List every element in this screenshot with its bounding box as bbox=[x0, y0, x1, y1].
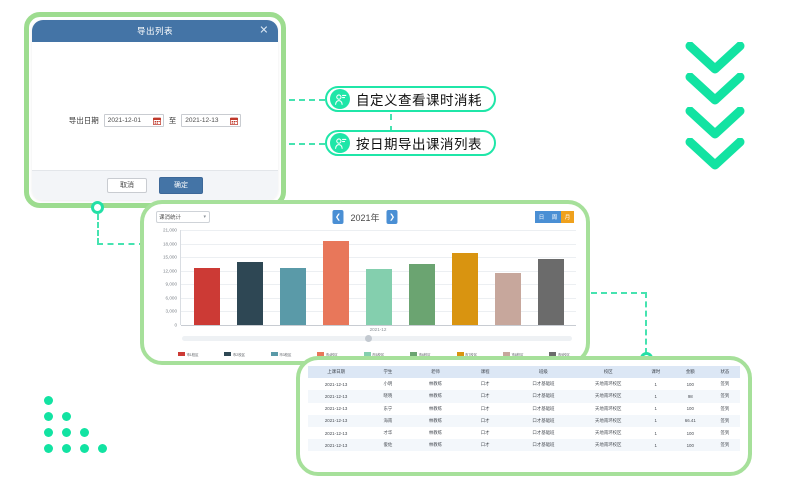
chevron-decoration-group bbox=[684, 42, 784, 177]
table-column-header[interactable]: 校区 bbox=[576, 369, 641, 375]
connector-line-callout-1 bbox=[289, 99, 325, 101]
table-cell: 66.41 bbox=[671, 418, 710, 423]
table-row[interactable]: 2021-12-13才华林教练口才口才基础班天地南环校区1100签到 bbox=[308, 427, 740, 439]
x-axis-label: 2021-12 bbox=[180, 327, 576, 332]
table-cell: 2021-12-13 bbox=[308, 431, 364, 436]
table-column-header[interactable]: 课程 bbox=[459, 369, 511, 375]
table-cell: 签到 bbox=[710, 406, 740, 412]
toggle-week[interactable]: 周 bbox=[548, 211, 561, 223]
person-search-icon bbox=[330, 133, 350, 153]
y-axis-tick: 21,000 bbox=[163, 228, 177, 233]
table-cell: 口才 bbox=[459, 393, 511, 399]
table-column-header[interactable]: 老师 bbox=[412, 369, 460, 375]
chart-bar[interactable] bbox=[495, 273, 521, 325]
table-cell: 98 bbox=[671, 394, 710, 399]
table-cell: 林教练 bbox=[412, 393, 460, 399]
data-table: 上课日期学生老师课程班级校区课时金额状态2021-12-13小明林教练口才口才基… bbox=[308, 366, 740, 466]
table-cell: 口才基础班 bbox=[511, 430, 576, 436]
chart-bar[interactable] bbox=[409, 264, 435, 325]
table-cell: 口才 bbox=[459, 430, 511, 436]
table-cell: 100 bbox=[671, 406, 710, 411]
table-column-header[interactable]: 课时 bbox=[641, 369, 671, 375]
table-cell: 晓晓 bbox=[364, 393, 412, 399]
legend-label: 市2校区 bbox=[233, 352, 245, 357]
chevron-down-decor-icon bbox=[684, 42, 746, 76]
chart-bar[interactable] bbox=[366, 269, 392, 325]
table-cell: 口才 bbox=[459, 442, 511, 448]
table-cell: 1 bbox=[641, 406, 671, 411]
table-cell: 口才基础班 bbox=[511, 381, 576, 387]
close-icon[interactable]: ✕ bbox=[259, 26, 269, 37]
year-label: 2021年 bbox=[350, 211, 379, 224]
chart-bar[interactable] bbox=[323, 241, 349, 325]
table-cell: 1 bbox=[641, 443, 671, 448]
chart-panel: 课消统计 ▾ ❮ 2021年 ❯ 日 周 月 03,0006,0009,0001… bbox=[140, 200, 590, 365]
table-cell: 林教练 bbox=[412, 430, 460, 436]
date-range-separator: 至 bbox=[169, 115, 177, 126]
connector-line-table-h bbox=[591, 292, 647, 294]
callout-custom-view: 自定义查看课时消耗 bbox=[325, 86, 496, 112]
report-type-value: 课消统计 bbox=[159, 213, 181, 221]
person-search-icon bbox=[330, 89, 350, 109]
chart-scrollbar[interactable] bbox=[182, 336, 572, 341]
connector-line-callout-2 bbox=[289, 143, 325, 145]
report-type-select[interactable]: 课消统计 ▾ bbox=[156, 211, 210, 223]
dialog-footer: 取消 确定 bbox=[32, 170, 278, 200]
table-cell: 天地南环校区 bbox=[576, 381, 641, 387]
legend-label: 市1校区 bbox=[187, 352, 199, 357]
legend-item[interactable]: 市2校区 bbox=[224, 352, 245, 357]
table-cell: 才华 bbox=[364, 430, 412, 436]
chevron-right-icon[interactable]: ❯ bbox=[387, 210, 398, 224]
table-row[interactable]: 2021-12-13晓晓林教练口才口才基础班天地南环校区198签到 bbox=[308, 390, 740, 402]
table-cell: 俊佐 bbox=[364, 442, 412, 448]
chevron-down-decor-icon bbox=[684, 138, 746, 172]
table-cell: 林教练 bbox=[412, 406, 460, 412]
connector-node-dialog bbox=[91, 201, 104, 214]
table-column-header[interactable]: 状态 bbox=[710, 369, 740, 375]
table-column-header[interactable]: 学生 bbox=[364, 369, 412, 375]
table-cell: 签到 bbox=[710, 393, 740, 399]
table-cell: 林教练 bbox=[412, 381, 460, 387]
table-column-header[interactable]: 班级 bbox=[511, 369, 576, 375]
table-cell: 2021-12-13 bbox=[308, 394, 364, 399]
start-date-value: 2021-12-01 bbox=[108, 117, 141, 124]
callout-export-by-date: 按日期导出课消列表 bbox=[325, 130, 496, 156]
table-cell: 1 bbox=[641, 382, 671, 387]
dialog-title: 导出列表 bbox=[137, 25, 173, 37]
date-range-row: 导出日期 2021-12-01 bbox=[32, 114, 278, 127]
bar-chart: 03,0006,0009,00012,00015,00018,00021,000… bbox=[152, 230, 576, 325]
table-cell: 天地南环校区 bbox=[576, 430, 641, 436]
table-cell: 东宁 bbox=[364, 406, 412, 412]
table-cell: 2021-12-13 bbox=[308, 382, 364, 387]
gridline bbox=[181, 325, 576, 326]
chart-bars bbox=[181, 230, 576, 325]
legend-swatch bbox=[178, 352, 185, 356]
period-toggle-group: 日 周 月 bbox=[535, 211, 574, 223]
table-column-header[interactable]: 金额 bbox=[671, 369, 710, 375]
table-cell: 2021-12-13 bbox=[308, 418, 364, 423]
chart-bar[interactable] bbox=[280, 268, 306, 325]
chevron-down-decor-icon bbox=[684, 73, 746, 107]
export-date-label: 导出日期 bbox=[69, 115, 99, 126]
table-cell: 林教练 bbox=[412, 442, 460, 448]
dot-grid-decoration bbox=[44, 396, 134, 460]
callout-label: 按日期导出课消列表 bbox=[356, 133, 482, 153]
table-row[interactable]: 2021-12-13俊佐林教练口才口才基础班天地南环校区1100签到 bbox=[308, 439, 740, 451]
connector-line-table-v bbox=[645, 292, 647, 354]
table-cell: 口才基础班 bbox=[511, 406, 576, 412]
table-cell: 口才 bbox=[459, 381, 511, 387]
table-cell: 签到 bbox=[710, 418, 740, 424]
table-cell: 100 bbox=[671, 382, 710, 387]
scrollbar-thumb[interactable] bbox=[365, 335, 372, 342]
legend-swatch bbox=[224, 352, 231, 356]
chart-gridlines bbox=[180, 230, 576, 325]
chevron-left-icon[interactable]: ❮ bbox=[332, 210, 343, 224]
screenshot-root: 导出列表 ✕ 导出日期 2021-12-01 bbox=[0, 0, 800, 500]
y-axis-tick: 12,000 bbox=[163, 268, 177, 273]
table-cell: 1 bbox=[641, 418, 671, 423]
table-header-row: 上课日期学生老师课程班级校区课时金额状态 bbox=[308, 366, 740, 378]
table-cell: 口才 bbox=[459, 418, 511, 424]
table-cell: 天地南环校区 bbox=[576, 442, 641, 448]
chart-bar[interactable] bbox=[194, 268, 220, 325]
y-axis-tick: 0 bbox=[174, 323, 177, 328]
connector-line-dialog-v bbox=[97, 214, 99, 244]
table-cell: 1 bbox=[641, 431, 671, 436]
chart-bar[interactable] bbox=[237, 262, 263, 325]
toggle-month[interactable]: 月 bbox=[561, 211, 574, 223]
chart-toolbar: 课消统计 ▾ ❮ 2021年 ❯ 日 周 月 bbox=[152, 210, 578, 226]
table-cell: 口才 bbox=[459, 406, 511, 412]
cancel-button[interactable]: 取消 bbox=[107, 178, 147, 193]
toggle-day[interactable]: 日 bbox=[535, 211, 548, 223]
y-axis-tick: 18,000 bbox=[163, 241, 177, 246]
table-cell: 口才基础班 bbox=[511, 393, 576, 399]
table-cell: 海南 bbox=[364, 418, 412, 424]
table-cell: 小明 bbox=[364, 381, 412, 387]
chart-bar[interactable] bbox=[452, 253, 478, 325]
y-axis-tick: 3,000 bbox=[166, 309, 178, 314]
table-cell: 天地南环校区 bbox=[576, 406, 641, 412]
chart-bar[interactable] bbox=[538, 259, 564, 325]
table-row[interactable]: 2021-12-13东宁林教练口才口才基础班天地南环校区1100签到 bbox=[308, 403, 740, 415]
calendar-icon[interactable] bbox=[153, 117, 161, 125]
legend-swatch bbox=[271, 352, 278, 356]
legend-item[interactable]: 市3校区 bbox=[271, 352, 292, 357]
end-date-input[interactable]: 2021-12-13 bbox=[181, 114, 241, 127]
table-cell: 2021-12-13 bbox=[308, 406, 364, 411]
y-axis-tick: 6,000 bbox=[166, 295, 178, 300]
y-axis: 03,0006,0009,00012,00015,00018,00021,000 bbox=[152, 230, 180, 325]
table-cell: 签到 bbox=[710, 442, 740, 448]
end-date-value: 2021-12-13 bbox=[185, 117, 218, 124]
dialog-title-bar: 导出列表 ✕ bbox=[32, 20, 278, 42]
table-cell: 林教练 bbox=[412, 418, 460, 424]
dialog-body: 导出日期 2021-12-01 bbox=[32, 42, 278, 170]
export-dialog-frame: 导出列表 ✕ 导出日期 2021-12-01 bbox=[24, 12, 286, 208]
table-cell: 签到 bbox=[710, 381, 740, 387]
legend-item[interactable]: 市1校区 bbox=[178, 352, 199, 357]
y-axis-tick: 9,000 bbox=[166, 282, 178, 287]
table-row[interactable]: 2021-12-13小明林教练口才口才基础班天地南环校区1100签到 bbox=[308, 378, 740, 390]
table-row[interactable]: 2021-12-13海南林教练口才口才基础班天地南环校区166.41签到 bbox=[308, 415, 740, 427]
chevron-down-decor-icon bbox=[684, 107, 746, 141]
callout-label: 自定义查看课时消耗 bbox=[356, 89, 482, 109]
table-cell: 口才基础班 bbox=[511, 442, 576, 448]
table-cell: 100 bbox=[671, 443, 710, 448]
data-table-panel: 上课日期学生老师课程班级校区课时金额状态2021-12-13小明林教练口才口才基… bbox=[296, 356, 752, 476]
start-date-input[interactable]: 2021-12-01 bbox=[104, 114, 164, 127]
table-column-header[interactable]: 上课日期 bbox=[308, 369, 364, 375]
y-axis-tick: 15,000 bbox=[163, 255, 177, 260]
table-cell: 口才基础班 bbox=[511, 418, 576, 424]
confirm-button[interactable]: 确定 bbox=[159, 177, 203, 194]
table-cell: 签到 bbox=[710, 430, 740, 436]
table-cell: 天地南环校区 bbox=[576, 393, 641, 399]
table-cell: 100 bbox=[671, 431, 710, 436]
calendar-icon[interactable] bbox=[230, 117, 238, 125]
year-navigator: ❮ 2021年 ❯ bbox=[332, 210, 397, 224]
table-cell: 天地南环校区 bbox=[576, 418, 641, 424]
export-dialog: 导出列表 ✕ 导出日期 2021-12-01 bbox=[32, 20, 278, 200]
chevron-down-icon: ▾ bbox=[203, 214, 206, 220]
table-cell: 2021-12-13 bbox=[308, 443, 364, 448]
legend-label: 市3校区 bbox=[279, 352, 291, 357]
table-cell: 1 bbox=[641, 394, 671, 399]
connector-line-dialog-h bbox=[97, 243, 145, 245]
